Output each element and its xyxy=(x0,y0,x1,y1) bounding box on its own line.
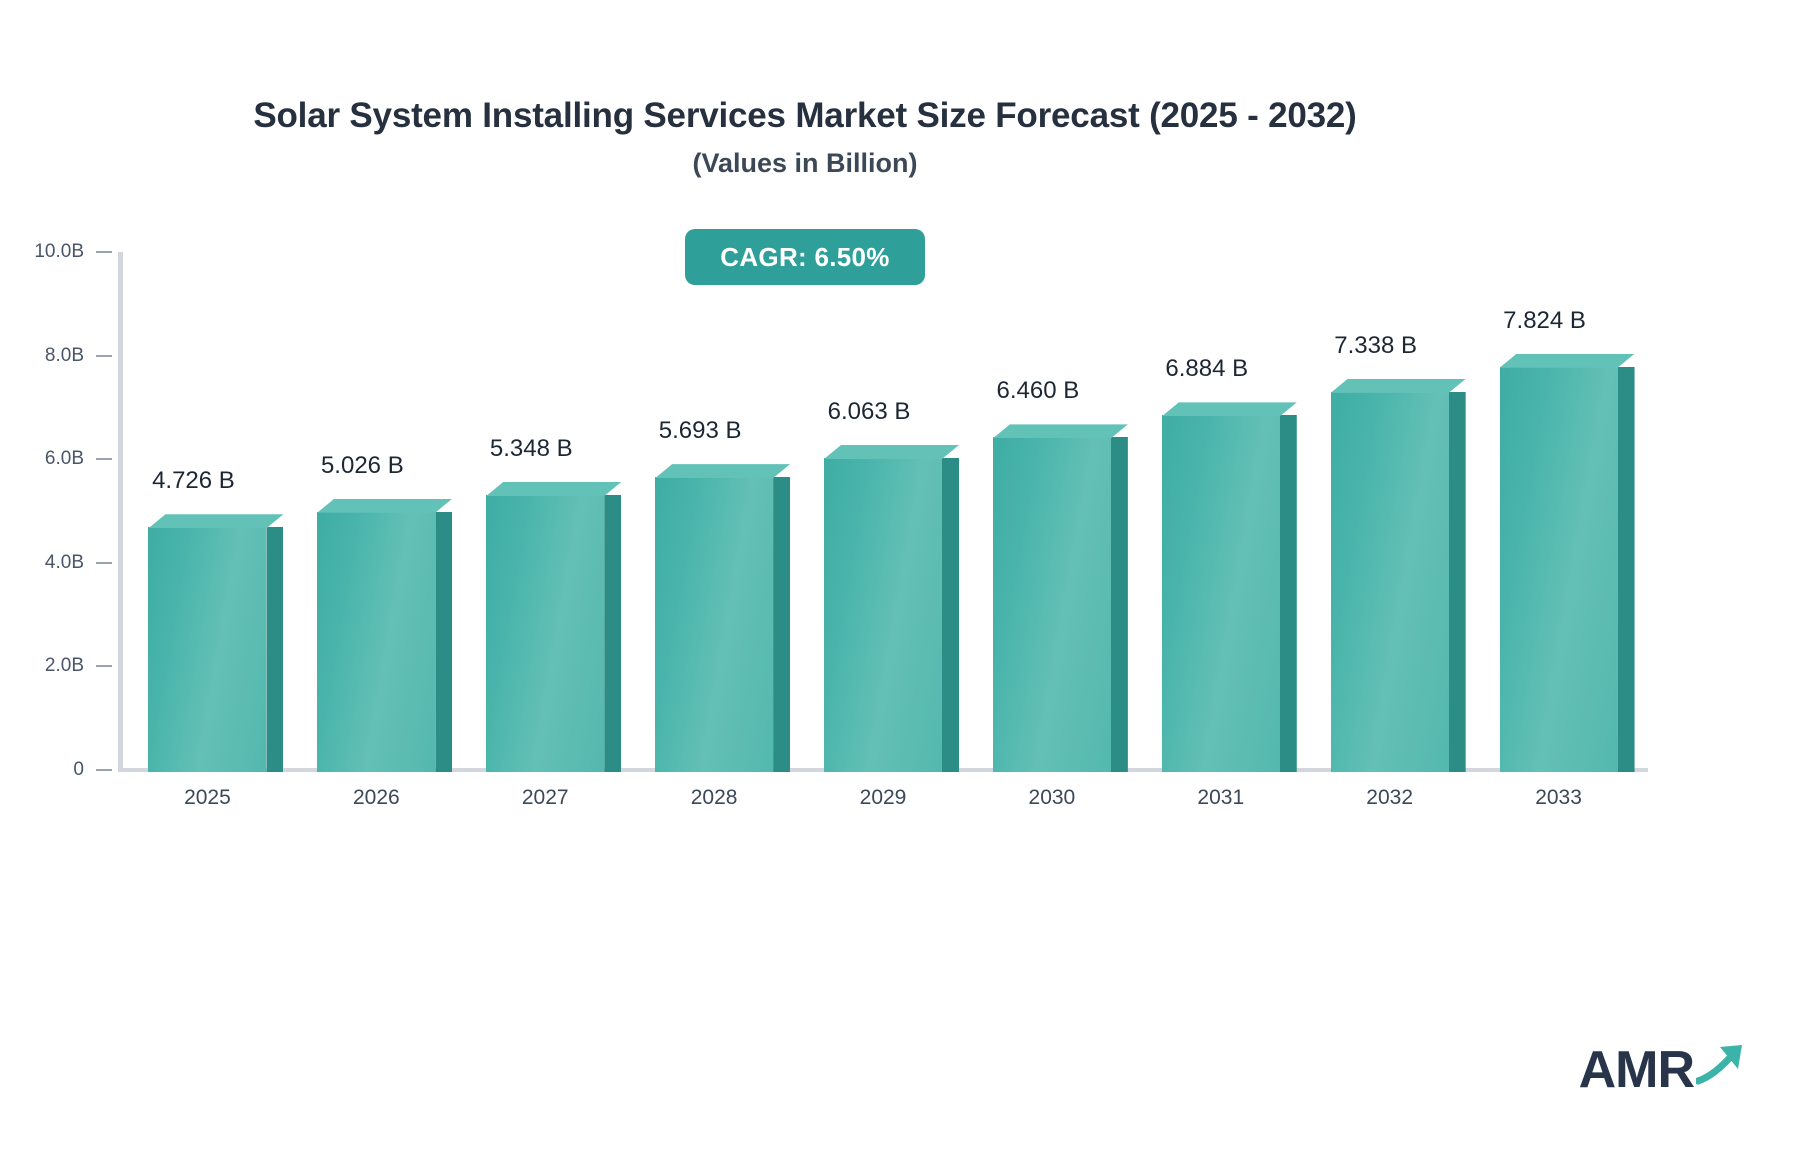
x-axis-tick-label: 2026 xyxy=(353,786,400,810)
bar-side-face xyxy=(266,527,283,772)
bar-top-face xyxy=(317,499,452,513)
bar-body xyxy=(993,437,1111,772)
y-axis-tick-mark xyxy=(96,251,112,253)
y-axis-tick: 4.0B xyxy=(45,552,112,574)
bar-front-face xyxy=(148,527,266,772)
x-axis-labels: 202520262027202820292030203120322033 xyxy=(123,786,1643,826)
bar-top-face xyxy=(824,445,959,459)
bar-value-label: 4.726 B xyxy=(152,467,235,495)
arrow-up-right-icon xyxy=(1696,1041,1748,1092)
y-axis-tick-mark xyxy=(96,665,112,667)
y-axis-tick: 2.0B xyxy=(45,655,112,677)
bar-side-face xyxy=(435,512,452,772)
bar-body xyxy=(1331,392,1449,772)
y-axis-tick-label: 2.0B xyxy=(45,655,84,677)
bar-body xyxy=(1500,367,1618,772)
bar-value-label: 5.693 B xyxy=(659,417,742,445)
bar[interactable] xyxy=(317,512,435,772)
bar-side-face xyxy=(1280,415,1297,772)
bar-series: 4.726 B5.026 B5.348 B5.693 B6.063 B6.460… xyxy=(123,252,1643,772)
bar-body xyxy=(655,477,773,772)
bar-value-label: 6.884 B xyxy=(1165,355,1248,383)
bar[interactable] xyxy=(486,495,604,772)
x-axis-tick-label: 2032 xyxy=(1366,786,1413,810)
y-axis-tick-mark xyxy=(96,769,112,771)
bar-body xyxy=(1162,415,1280,772)
y-axis-tick-label: 10.0B xyxy=(34,241,84,263)
bar[interactable] xyxy=(148,527,266,772)
bar-top-face xyxy=(1331,379,1466,393)
amr-logo: AMR xyxy=(1579,1041,1748,1096)
bar-value-label: 7.824 B xyxy=(1503,307,1586,335)
bar-value-label: 6.460 B xyxy=(997,377,1080,405)
y-axis-tick-label: 0 xyxy=(73,759,84,781)
bar-top-face xyxy=(1162,402,1297,416)
bar-body xyxy=(317,512,435,772)
bar-body xyxy=(486,495,604,772)
x-axis-tick-label: 2033 xyxy=(1535,786,1582,810)
bar-top-face xyxy=(148,514,283,528)
bar-side-face xyxy=(1111,437,1128,772)
y-axis-tick: 8.0B xyxy=(45,345,112,367)
bar-top-face xyxy=(486,482,621,496)
bar-front-face xyxy=(317,512,435,772)
y-axis-tick: 10.0B xyxy=(34,241,112,263)
y-axis-tick-mark xyxy=(96,458,112,460)
x-axis-tick-label: 2028 xyxy=(691,786,738,810)
bar-side-face xyxy=(942,458,959,772)
bar-top-face xyxy=(1500,354,1635,368)
bar-value-label: 5.348 B xyxy=(490,435,573,463)
bar-front-face xyxy=(486,495,604,772)
bar[interactable] xyxy=(1500,367,1618,772)
bar-front-face xyxy=(824,458,942,772)
amr-logo-text: AMR xyxy=(1579,1044,1694,1096)
bar-value-label: 7.338 B xyxy=(1334,332,1417,360)
y-axis-tick: 6.0B xyxy=(45,448,112,470)
y-axis-tick-mark xyxy=(96,355,112,357)
y-axis-tick-label: 6.0B xyxy=(45,448,84,470)
bar-front-face xyxy=(1331,392,1449,772)
y-axis-tick: 0 xyxy=(73,759,112,781)
bar-body xyxy=(824,458,942,772)
bar-value-label: 6.063 B xyxy=(828,398,911,426)
x-axis-tick-label: 2027 xyxy=(522,786,569,810)
bar-body xyxy=(148,527,266,772)
bar[interactable] xyxy=(824,458,942,772)
x-axis-tick-label: 2025 xyxy=(184,786,231,810)
y-axis-tick-label: 4.0B xyxy=(45,552,84,574)
bar-side-face xyxy=(773,477,790,772)
x-axis-tick-label: 2030 xyxy=(1029,786,1076,810)
page-title: Solar System Installing Services Market … xyxy=(0,96,1610,136)
bar-top-face xyxy=(655,464,790,478)
x-axis-tick-label: 2029 xyxy=(860,786,907,810)
bar-front-face xyxy=(993,437,1111,772)
x-axis-tick-label: 2031 xyxy=(1197,786,1244,810)
y-axis-labels: 10.0B8.0B6.0B4.0B2.0B0 xyxy=(0,0,112,1156)
bar-value-label: 5.026 B xyxy=(321,452,404,480)
chart-subtitle: (Values in Billion) xyxy=(0,148,1610,179)
bar-front-face xyxy=(655,477,773,772)
bar-side-face xyxy=(1618,367,1635,772)
bar-side-face xyxy=(1449,392,1466,772)
bar-top-face xyxy=(993,424,1128,438)
y-axis-tick-label: 8.0B xyxy=(45,345,84,367)
bar[interactable] xyxy=(993,437,1111,772)
y-axis-tick-mark xyxy=(96,562,112,564)
bar[interactable] xyxy=(1331,392,1449,772)
bar[interactable] xyxy=(655,477,773,772)
bar[interactable] xyxy=(1162,415,1280,772)
bar-front-face xyxy=(1500,367,1618,772)
bar-front-face xyxy=(1162,415,1280,772)
bar-side-face xyxy=(604,495,621,772)
